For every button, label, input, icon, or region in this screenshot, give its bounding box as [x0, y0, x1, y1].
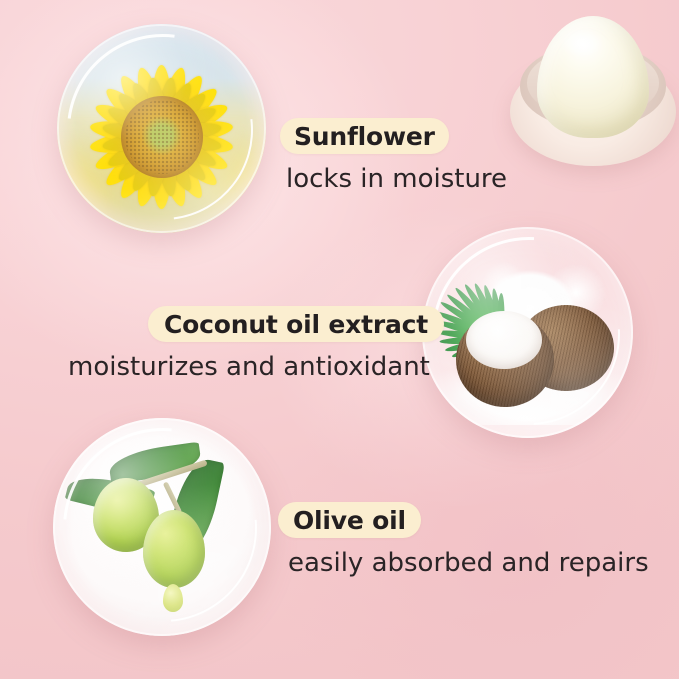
olive-bubble-image — [53, 418, 271, 636]
sunflower-disc — [121, 96, 203, 178]
sunflower-bubble-image — [57, 24, 266, 233]
lip-balm-highlight — [560, 29, 603, 57]
sunflower-label: Sunflower — [294, 124, 435, 149]
coconut-cream — [466, 311, 542, 369]
olive-oil-drop — [163, 584, 183, 612]
olive-benefit: easily absorbed and repairs — [288, 550, 649, 576]
olive-label: Olive oil — [293, 508, 406, 533]
coconut-bubble-image — [422, 227, 633, 438]
coconut-benefit: moisturizes and antioxidant — [68, 354, 430, 380]
coconut-label: Coconut oil extract — [164, 312, 428, 337]
lip-balm-product-image — [510, 10, 676, 166]
sunflower-label-pill: Sunflower — [280, 118, 449, 154]
sunflower-benefit: locks in moisture — [286, 166, 507, 192]
olive-scene — [53, 418, 271, 636]
olive-label-pill: Olive oil — [278, 502, 421, 538]
coconut-scene — [422, 227, 633, 438]
infographic-canvas: Sunflower locks in moisture Coconut oil … — [0, 0, 679, 679]
sunflower-scene — [57, 24, 266, 233]
olive-fruit-lower — [143, 510, 205, 588]
coconut-label-pill: Coconut oil extract — [148, 306, 444, 342]
